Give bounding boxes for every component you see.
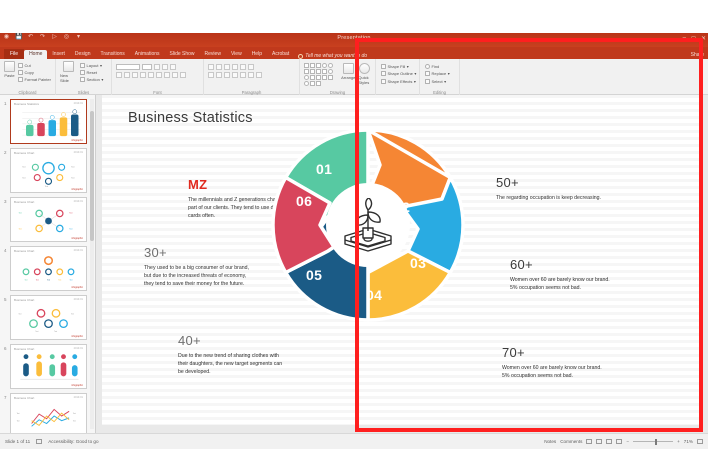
chevron-down-icon: ▾	[100, 63, 102, 68]
zoom-slider-handle[interactable]	[655, 439, 657, 445]
chevron-down-icon: ▾	[414, 79, 416, 84]
lightbulb-icon	[298, 54, 303, 59]
notes-button[interactable]: Notes	[544, 439, 556, 444]
svg-text:Text: Text	[69, 227, 73, 230]
svg-text:Text: Text	[71, 165, 75, 168]
find-label: Find	[432, 64, 440, 69]
align-center-icon[interactable]	[216, 72, 222, 78]
thumbnail-5-graphic: TextText TextText	[11, 303, 86, 335]
copy-button[interactable]: Copy	[17, 69, 52, 75]
workspace: 1 Business Statistics 2019.01 infographi…	[0, 95, 708, 433]
thumbnail-number: 4	[4, 248, 7, 253]
svg-text:Text: Text	[71, 312, 74, 315]
shape-effects-button[interactable]: Shape Effects ▾	[380, 78, 415, 84]
shape-square-icon[interactable]	[304, 69, 309, 74]
text-block-60plus[interactable]: 60+ Women over 60 are barely know our br…	[510, 257, 618, 292]
shape-effects-label: Shape Effects	[388, 79, 413, 84]
shape-donut-icon[interactable]	[328, 69, 333, 74]
thumbnail-date: 2019.01	[74, 102, 83, 105]
block-heading: 60+	[510, 257, 618, 272]
shape-ring-icon[interactable]	[304, 81, 309, 86]
arrange-label: Arrange	[341, 75, 355, 80]
align-left-icon[interactable]	[208, 72, 214, 78]
thumbnail-title: Business Chart	[14, 249, 34, 253]
shape-fill-label: Shape Fill	[388, 64, 406, 69]
bold-icon[interactable]	[116, 72, 122, 78]
donut-label-05: 05	[306, 267, 322, 283]
share-button[interactable]: Share	[691, 52, 704, 58]
donut-label-06: 06	[296, 193, 312, 209]
shape-star-icon[interactable]	[316, 75, 321, 80]
paste-icon	[4, 61, 15, 72]
thumbnail-1-graphic	[11, 107, 86, 139]
chevron-down-icon: ▾	[448, 71, 450, 76]
new-slide-label: New Slide	[60, 73, 77, 83]
language-icon[interactable]	[36, 439, 42, 444]
fit-to-window-icon[interactable]	[697, 439, 703, 444]
chevron-down-icon: ▾	[414, 71, 416, 76]
screenshot-root: ◉ 💾 ↶ ↷ ▷ ◎ ▾ Presentation – ◻ ✕ File Ho…	[0, 0, 708, 472]
section-label: Section	[87, 77, 100, 82]
decrease-indent-icon[interactable]	[224, 64, 230, 70]
svg-text:Text: Text	[71, 177, 75, 180]
text-highlight-icon[interactable]	[172, 72, 178, 78]
zoom-in-icon[interactable]: +	[677, 439, 680, 444]
arrange-icon	[343, 63, 354, 74]
quick-styles-icon	[359, 63, 370, 74]
thumbnail-slide-1[interactable]: 1 Business Statistics 2019.01 infographi…	[10, 99, 87, 144]
thumbnail-7-graphic: TextText TextText	[11, 401, 86, 433]
slide-sorter-icon[interactable]	[596, 439, 602, 444]
align-right-icon[interactable]	[224, 72, 230, 78]
tab-help[interactable]: Help	[247, 50, 267, 59]
block-body: They used to be a big consumer of our br…	[144, 264, 252, 288]
title-bar: ◉ 💾 ↶ ↷ ▷ ◎ ▾ Presentation – ◻ ✕	[0, 33, 708, 47]
svg-text:Text: Text	[24, 278, 28, 281]
shape-rect-icon[interactable]	[304, 63, 309, 68]
thumbnail-footer: infographic	[71, 335, 83, 338]
tab-animations[interactable]: Animations	[130, 50, 165, 59]
thumbnail-number: 1	[4, 101, 7, 106]
block-heading: 50+	[496, 175, 604, 190]
scrollbar-thumb[interactable]	[90, 111, 94, 241]
ribbon-group-shape-format: Shape Fill ▾ Shape Outline ▾ Shape Effec…	[376, 59, 420, 95]
slide-editing-area[interactable]: Business Statistics MZ The millennials a…	[96, 95, 708, 433]
reset-label: Reset	[87, 70, 97, 75]
donut-center-hub	[326, 183, 410, 267]
select-icon	[425, 79, 430, 84]
layout-label: Layout	[87, 63, 99, 68]
thumbnail-slide-3[interactable]: 3 Business Chart 2019.01 infographic	[10, 197, 87, 242]
chevron-down-icon: ▾	[101, 77, 103, 82]
quick-styles-button[interactable]: Quick Styles	[358, 63, 371, 85]
block-heading: 40+	[178, 333, 286, 348]
shape-fill-button[interactable]: Shape Fill ▾	[380, 63, 415, 69]
normal-view-icon[interactable]	[586, 439, 592, 444]
section-button[interactable]: Section ▾	[79, 76, 104, 82]
strikethrough-icon[interactable]	[140, 72, 146, 78]
svg-text:Text: Text	[19, 312, 22, 315]
donut-chart[interactable]: 01 02 03 04 05 06	[270, 127, 466, 323]
thumbnail-number: 5	[4, 297, 7, 302]
thumbnail-date: 2019.01	[74, 396, 83, 399]
thumbnail-3-graphic: TextText TextText	[11, 205, 86, 237]
increase-font-size-icon[interactable]	[154, 64, 160, 70]
reset-button[interactable]: Reset	[79, 69, 104, 75]
tab-view[interactable]: View	[226, 50, 247, 59]
convert-to-smartart-icon[interactable]	[256, 72, 262, 78]
text-direction-icon[interactable]	[248, 64, 254, 70]
thumbnail-footer: infographic	[71, 237, 83, 240]
tab-design[interactable]: Design	[70, 50, 96, 59]
tab-transitions[interactable]: Transitions	[96, 50, 130, 59]
numbering-icon[interactable]	[216, 64, 222, 70]
replace-icon	[425, 71, 430, 76]
thumbnail-slide-4[interactable]: 4 Business Chart 2019.01 infographic	[10, 246, 87, 291]
shape-diamond-icon[interactable]	[316, 69, 321, 74]
thumbnail-number: 7	[4, 395, 7, 400]
plant-growing-from-money-icon	[339, 198, 397, 252]
ribbon-tabs[interactable]: File Home Insert Design Transitions Anim…	[0, 47, 708, 59]
thumbnail-date: 2019.01	[74, 298, 83, 301]
shape-banner-icon[interactable]	[322, 75, 327, 80]
block-body: Due to the new trend of sharing clothes …	[178, 352, 286, 376]
close-icon[interactable]: ✕	[701, 35, 706, 42]
block-heading: 30+	[144, 245, 252, 260]
svg-text:Text: Text	[35, 330, 38, 333]
shape-pentagon-icon[interactable]	[322, 69, 327, 74]
thumbnail-4-graphic: TextText TextText Text	[11, 254, 86, 286]
font-name-input[interactable]	[116, 64, 140, 70]
ribbon-group-clipboard: Paste Cut Copy Format Pain	[0, 59, 56, 95]
thumbnail-title: Business Chart	[14, 200, 34, 204]
shape-effects-icon	[381, 79, 386, 84]
page-title: Business Statistics	[128, 110, 253, 126]
window-title: Presentation	[0, 35, 708, 41]
justify-icon[interactable]	[232, 72, 238, 78]
slide-counter: Slide 1 of 11	[5, 439, 30, 444]
shape-callout-icon[interactable]	[310, 75, 315, 80]
text-block-70plus[interactable]: 70+ Women over 60 are barely know our br…	[502, 345, 610, 380]
reset-icon	[80, 70, 85, 75]
svg-text:Text: Text	[17, 412, 20, 415]
format-painter-button[interactable]: Format Painter	[17, 76, 52, 82]
find-icon	[425, 64, 430, 69]
svg-text:Text: Text	[36, 278, 40, 281]
thumbnail-slide-5[interactable]: 5 Business Chart 2019.01 infographic Tex…	[10, 295, 87, 340]
shape-fill-icon	[381, 64, 386, 69]
slide-thumbnail-pane[interactable]: 1 Business Statistics 2019.01 infographi…	[0, 95, 96, 433]
tab-review[interactable]: Review	[200, 50, 226, 59]
svg-text:Text: Text	[22, 177, 26, 180]
underline-icon[interactable]	[132, 72, 138, 78]
decrease-font-size-icon[interactable]	[162, 64, 168, 70]
shape-outline-label: Shape Outline	[388, 71, 413, 76]
copy-icon	[18, 70, 23, 75]
line-spacing-icon[interactable]	[240, 64, 246, 70]
paste-label: Paste	[4, 73, 14, 78]
svg-text:Text: Text	[17, 420, 20, 423]
shape-chevron-icon[interactable]	[310, 81, 315, 86]
thumbnail-footer: infographic	[71, 286, 83, 289]
format-painter-icon	[18, 77, 23, 82]
shapes-gallery[interactable]	[304, 63, 338, 86]
arrange-button[interactable]: Arrange	[341, 63, 355, 80]
accessibility-status[interactable]: Accessibility: Good to go	[48, 439, 98, 444]
thumbnail-footer: infographic	[71, 139, 83, 142]
bullets-icon[interactable]	[208, 64, 214, 70]
thumbnail-date: 2019.01	[74, 249, 83, 252]
italic-icon[interactable]	[124, 72, 130, 78]
thumbnail-6-graphic	[11, 352, 86, 384]
thumbnail-slide-7[interactable]: 7 Business Chart 2019.01 infographic Tex…	[10, 393, 87, 433]
quick-styles-label: Quick Styles	[358, 75, 371, 85]
svg-text:Text: Text	[54, 330, 57, 333]
text-block-50plus[interactable]: 50+ The regarding occupation is keep dec…	[496, 175, 604, 202]
shape-arrow-icon[interactable]	[316, 63, 321, 68]
thumbnail-number: 6	[4, 346, 7, 351]
thumbnail-2-graphic: TextText TextText Text	[11, 156, 86, 188]
svg-text:Text: Text	[19, 211, 23, 214]
svg-text:Text: Text	[22, 165, 26, 168]
shape-triangle-icon[interactable]	[310, 69, 315, 74]
align-text-icon[interactable]	[248, 72, 254, 78]
svg-text:Text: Text	[19, 227, 23, 230]
tab-acrobat[interactable]: Acrobat	[267, 50, 294, 59]
thumbnail-footer: infographic	[71, 188, 83, 191]
shape-circle-icon[interactable]	[322, 63, 327, 68]
shape-plus-icon[interactable]	[328, 75, 333, 80]
tab-insert[interactable]: Insert	[47, 50, 70, 59]
svg-text:Text: Text	[69, 211, 73, 214]
columns-icon[interactable]	[240, 72, 246, 78]
ribbon-group-drawing: Arrange Quick Styles Drawing	[300, 59, 376, 95]
cut-button[interactable]: Cut	[17, 62, 52, 68]
font-color-icon[interactable]	[180, 72, 186, 78]
svg-text:Text: Text	[58, 278, 62, 281]
find-button[interactable]: Find	[424, 63, 455, 69]
shapes-more-icon[interactable]	[316, 81, 321, 86]
zoom-slider[interactable]	[633, 441, 673, 442]
ribbon-group-font: Font	[112, 59, 204, 95]
change-case-icon[interactable]	[164, 72, 170, 78]
new-slide-button[interactable]: New Slide	[60, 61, 77, 83]
shape-moon-icon[interactable]	[304, 75, 309, 80]
increase-indent-icon[interactable]	[232, 64, 238, 70]
layout-button[interactable]: Layout ▾	[79, 62, 104, 68]
svg-text:Text: Text	[73, 420, 76, 423]
thumbnail-slide-6[interactable]: 6 Business Chart 2019.01 infographic	[10, 344, 87, 389]
powerpoint-window: ◉ 💾 ↶ ↷ ▷ ◎ ▾ Presentation – ◻ ✕ File Ho…	[0, 33, 708, 449]
new-slide-icon	[63, 61, 74, 72]
slideshow-icon[interactable]	[616, 439, 622, 444]
shape-outline-icon	[381, 71, 386, 76]
status-bar: Slide 1 of 11 Accessibility: Good to go …	[0, 433, 708, 449]
ribbon-filler	[460, 59, 708, 94]
donut-label-03: 03	[410, 255, 426, 271]
minimize-icon[interactable]: –	[683, 35, 686, 42]
zoom-level[interactable]: 71%	[684, 439, 693, 444]
thumbnail-slide-2[interactable]: 2 Business Chart 2019.01 infographic Tex…	[10, 148, 87, 193]
chevron-down-icon: ▾	[407, 64, 409, 69]
block-heading: 70+	[502, 345, 610, 360]
block-body: Women over 60 are barely know our brand.…	[502, 364, 610, 380]
svg-text:Text: Text	[69, 278, 73, 281]
ribbon-home: Paste Cut Copy Format Pain	[0, 59, 708, 95]
chevron-down-icon: ▾	[444, 79, 446, 84]
select-label: Select	[432, 79, 443, 84]
donut-label-01: 01	[316, 161, 332, 177]
restore-icon[interactable]: ◻	[691, 35, 696, 42]
thumbnail-title: Business Chart	[14, 151, 34, 155]
zoom-out-icon[interactable]: −	[626, 439, 629, 444]
comments-button[interactable]: Comments	[560, 439, 582, 444]
select-button[interactable]: Select ▾	[424, 78, 455, 84]
tab-slide-show[interactable]: Slide Show	[165, 50, 200, 59]
layout-icon	[80, 63, 85, 68]
character-spacing-icon[interactable]	[156, 72, 162, 78]
shape-oval-icon[interactable]	[328, 63, 333, 68]
block-body: Women over 60 are barely know our brand.…	[510, 276, 618, 292]
cut-icon	[18, 63, 23, 68]
svg-text:Text: Text	[47, 278, 51, 281]
ribbon-group-editing: Find Replace ▾ Select ▾ Editing	[420, 59, 460, 95]
block-body: The regarding occupation is keep decreas…	[496, 194, 604, 202]
tab-file[interactable]: File	[4, 49, 24, 59]
thumbnail-scrollbar[interactable]	[90, 99, 94, 429]
reading-view-icon[interactable]	[606, 439, 612, 444]
replace-label: Replace	[432, 71, 447, 76]
thumbnail-footer: infographic	[71, 384, 83, 387]
font-size-input[interactable]	[142, 64, 152, 70]
text-shadow-icon[interactable]	[148, 72, 154, 78]
window-controls[interactable]: – ◻ ✕	[683, 35, 706, 42]
shape-line-icon[interactable]	[310, 63, 315, 68]
cut-label: Cut	[25, 63, 31, 68]
current-slide[interactable]: Business Statistics MZ The millennials a…	[102, 95, 700, 425]
text-block-30plus[interactable]: 30+ They used to be a big consumer of ou…	[144, 245, 252, 288]
ribbon-group-paragraph: Paragraph	[204, 59, 300, 95]
thumbnail-title: Business Chart	[14, 396, 34, 400]
tab-home[interactable]: Home	[24, 50, 47, 59]
ribbon-group-slides: New Slide Layout ▾ Reset	[56, 59, 112, 95]
section-icon	[80, 77, 85, 82]
thumbnail-number: 3	[4, 199, 7, 204]
format-painter-label: Format Painter	[25, 77, 51, 82]
thumbnail-date: 2019.01	[74, 151, 83, 154]
shape-outline-button[interactable]: Shape Outline ▾	[380, 71, 415, 77]
thumbnail-title: Business Statistics	[14, 102, 39, 106]
paste-button[interactable]: Paste	[4, 61, 15, 78]
status-bar-right: Notes Comments − + 71%	[544, 439, 703, 444]
svg-text:Text: Text	[45, 185, 49, 188]
thumbnail-number: 2	[4, 150, 7, 155]
clear-formatting-icon[interactable]	[170, 64, 176, 70]
donut-label-04: 04	[366, 287, 382, 303]
copy-label: Copy	[25, 70, 34, 75]
replace-button[interactable]: Replace ▾	[424, 71, 455, 77]
thumbnail-title: Business Chart	[14, 298, 34, 302]
text-block-40plus[interactable]: 40+ Due to the new trend of sharing clot…	[178, 333, 286, 376]
thumbnail-title: Business Chart	[14, 347, 34, 351]
thumbnail-date: 2019.01	[74, 347, 83, 350]
svg-text:Text: Text	[73, 412, 76, 415]
thumbnail-date: 2019.01	[74, 200, 83, 203]
